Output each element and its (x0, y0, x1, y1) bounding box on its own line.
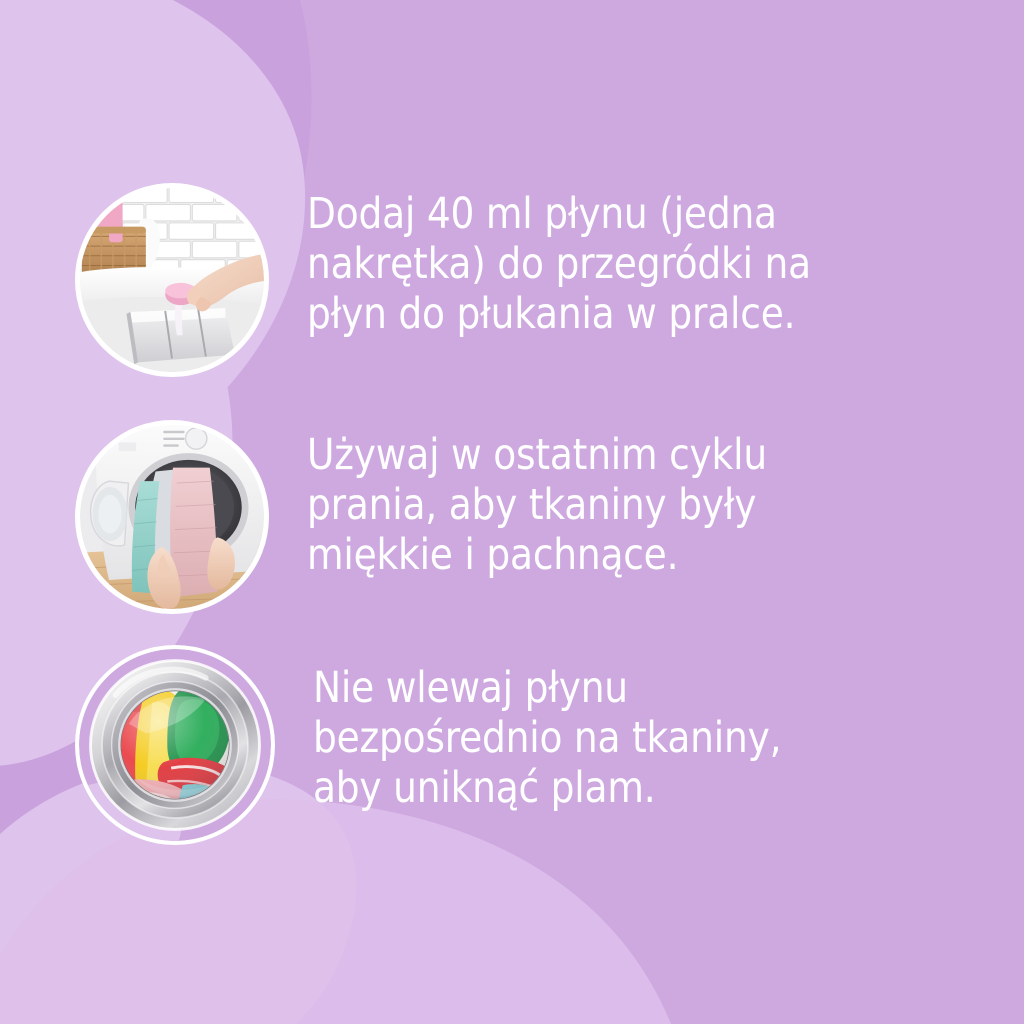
loading-towels-into-washing-machine-photo (80, 425, 264, 609)
step-1-text: Dodaj 40 ml płynu (jedna nakrętka) do pr… (307, 183, 811, 339)
step-2-image-circle (75, 420, 269, 614)
step-item: Używaj w ostatnim cyklu prania, aby tkan… (0, 420, 1024, 614)
step-2-text: Używaj w ostatnim cyklu prania, aby tkan… (307, 420, 767, 580)
step-3-text: Nie wlewaj płynu bezpośrednio na tkaniny… (313, 645, 781, 813)
instruction-poster: Dodaj 40 ml płynu (jedna nakrętka) do pr… (0, 0, 1024, 1024)
step-3-image-circle (75, 645, 275, 845)
step-item: Nie wlewaj płynu bezpośrednio na tkaniny… (0, 645, 1024, 845)
washing-machine-door-with-colorful-laundry-photo (79, 649, 271, 841)
step-1-image-circle (75, 183, 269, 377)
step-item: Dodaj 40 ml płynu (jedna nakrętka) do pr… (0, 183, 1024, 377)
steps-list: Dodaj 40 ml płynu (jedna nakrętka) do pr… (0, 0, 1024, 1024)
pouring-fabric-softener-into-drawer-photo (80, 188, 264, 372)
